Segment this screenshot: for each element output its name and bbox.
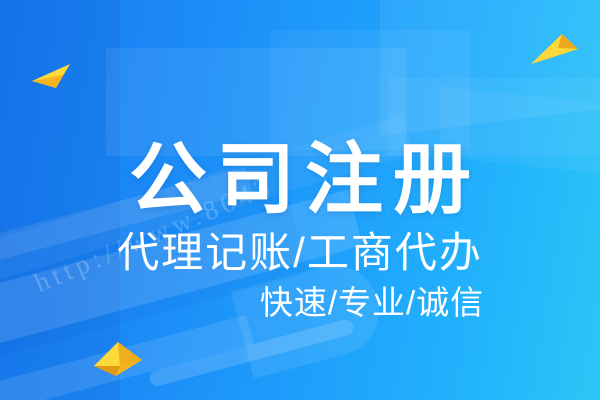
- banner-headline: 公司注册: [0, 140, 600, 218]
- banner-subline: 代理记账/工商代办: [0, 232, 600, 274]
- banner-tagline: 快速/专业/诚信: [0, 286, 600, 319]
- promo-banner: http://www.8643 公司注册 代理记账/工商代办 快速/专业/诚信: [0, 0, 600, 400]
- banner-text-stack: 公司注册 代理记账/工商代办 快速/专业/诚信: [0, 0, 600, 400]
